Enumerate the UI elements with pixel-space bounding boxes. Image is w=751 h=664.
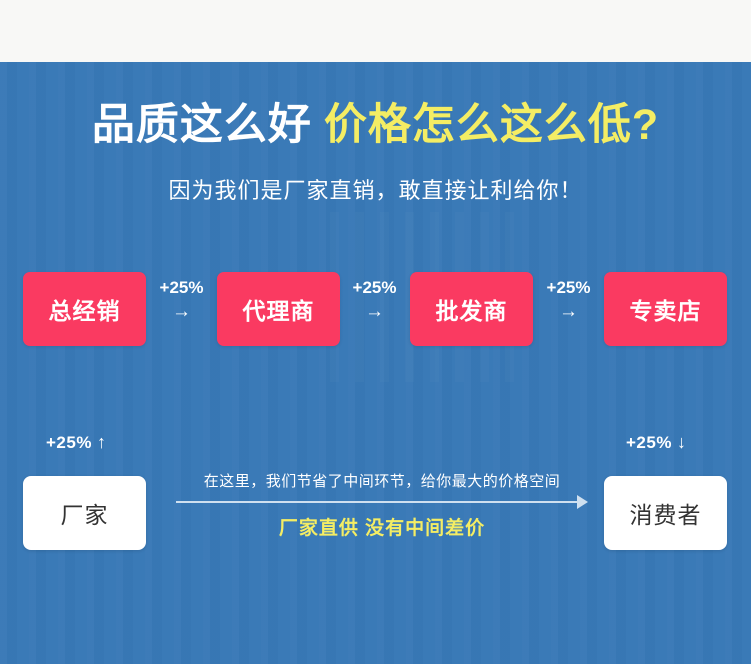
chain-box-label: 批发商 — [436, 292, 508, 326]
long-right-arrow-icon — [176, 495, 588, 509]
right-arrow-icon: → — [146, 300, 217, 325]
chain-box-agent: 代理商 — [217, 272, 340, 346]
chain-markup-3: +25% → — [533, 278, 604, 325]
direct-supply-highlight: 厂家直供 没有中间差价 — [176, 513, 588, 540]
markup-up-label: +25%↑ — [46, 432, 106, 453]
page-subtitle: 因为我们是厂家直销，敢直接让利给你！ — [0, 173, 751, 205]
right-arrow-icon: → — [533, 300, 604, 325]
chain-box-wholesaler: 批发商 — [410, 272, 533, 346]
consumer-label: 消费者 — [630, 496, 702, 530]
arrow-up-icon: ↑ — [97, 432, 107, 452]
page-title: 品质这么好价格怎么这么低? — [0, 104, 751, 147]
promo-banner: 品质这么好价格怎么这么低? 因为我们是厂家直销，敢直接让利给你！ 总经销 +25… — [0, 0, 751, 664]
markup-percent: +25% — [339, 278, 410, 298]
arrow-shaft — [176, 501, 580, 503]
markup-percent: +25% — [533, 278, 604, 298]
right-arrow-icon: → — [339, 300, 410, 325]
chain-box-label: 总经销 — [49, 292, 121, 326]
headline-yellow-text: 价格怎么这么低? — [324, 101, 659, 149]
blue-content-panel — [0, 62, 751, 664]
chain-markup-2: +25% → — [339, 278, 410, 325]
chain-box-label: 代理商 — [243, 292, 315, 326]
arrow-down-icon: ↓ — [677, 432, 687, 452]
markup-percent: +25% — [46, 433, 92, 452]
headline-white-text: 品质这么好 — [92, 101, 312, 149]
manufacturer-label: 厂家 — [61, 496, 109, 530]
chain-box-label: 专卖店 — [630, 292, 702, 326]
markup-percent: +25% — [146, 278, 217, 298]
distribution-chain: 总经销 +25% → 代理商 +25% → 批发商 +25% → 专卖店 — [23, 272, 728, 346]
markup-percent: +25% — [626, 433, 672, 452]
markup-down-label: +25%↓ — [626, 432, 686, 453]
manufacturer-box: 厂家 — [23, 476, 146, 550]
arrow-head — [577, 495, 588, 509]
direct-supply-message: 在这里，我们节省了中间环节，给你最大的价格空间 厂家直供 没有中间差价 — [176, 471, 588, 540]
top-white-band — [0, 0, 751, 62]
consumer-box: 消费者 — [604, 476, 727, 550]
chain-markup-1: +25% → — [146, 278, 217, 325]
chain-box-specialty-store: 专卖店 — [604, 272, 727, 346]
savings-message: 在这里，我们节省了中间环节，给你最大的价格空间 — [176, 471, 588, 494]
chain-box-general-distributor: 总经销 — [23, 272, 146, 346]
